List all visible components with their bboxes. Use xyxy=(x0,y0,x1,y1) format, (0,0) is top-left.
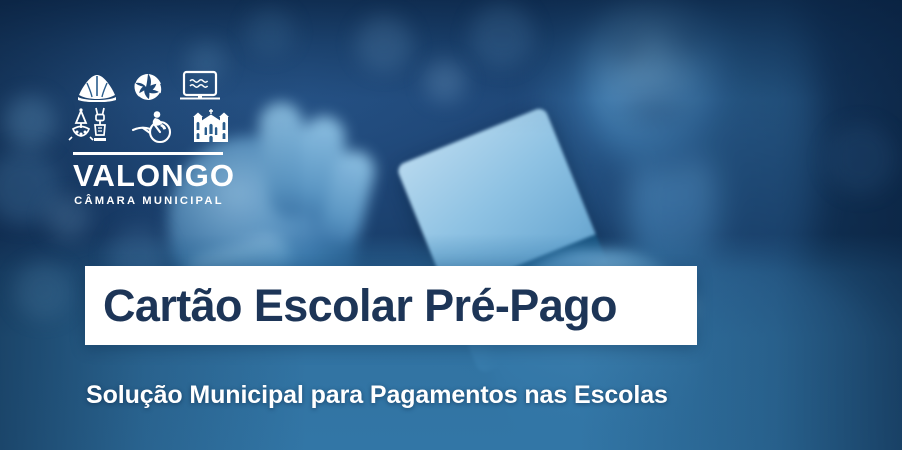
bokeh-circle xyxy=(470,4,534,68)
church-icon xyxy=(191,108,231,144)
bokeh-circle xyxy=(4,96,56,148)
bokeh-circle xyxy=(14,262,72,320)
bokeh-circle xyxy=(356,16,412,72)
title-band: Cartão Escolar Pré-Pago xyxy=(85,266,697,345)
slate-wheel-icon xyxy=(133,72,163,102)
folklore-icon xyxy=(67,106,115,144)
page-subtitle: Solução Municipal para Pagamentos nas Es… xyxy=(86,381,668,410)
logo-icon-row-1 xyxy=(77,70,221,102)
bokeh-circle xyxy=(246,8,294,56)
hill-icon xyxy=(77,72,117,102)
wheelchair-athlete-icon xyxy=(131,108,175,144)
valongo-logo[interactable]: VALONGO CÂMARA MUNICIPAL xyxy=(73,70,225,207)
logo-wordmark: VALONGO xyxy=(73,160,225,191)
logo-tagline: CÂMARA MUNICIPAL xyxy=(73,196,225,207)
bokeh-circle xyxy=(826,124,896,194)
bokeh-circle xyxy=(424,60,466,102)
laptop-icon xyxy=(179,70,221,102)
logo-icon-row-2 xyxy=(67,106,231,144)
logo-divider xyxy=(73,152,223,155)
banner-hero: VALONGO CÂMARA MUNICIPAL Cartão Escolar … xyxy=(0,0,902,450)
logo-icon-grid xyxy=(73,70,225,144)
page-title: Cartão Escolar Pré-Pago xyxy=(85,280,617,332)
